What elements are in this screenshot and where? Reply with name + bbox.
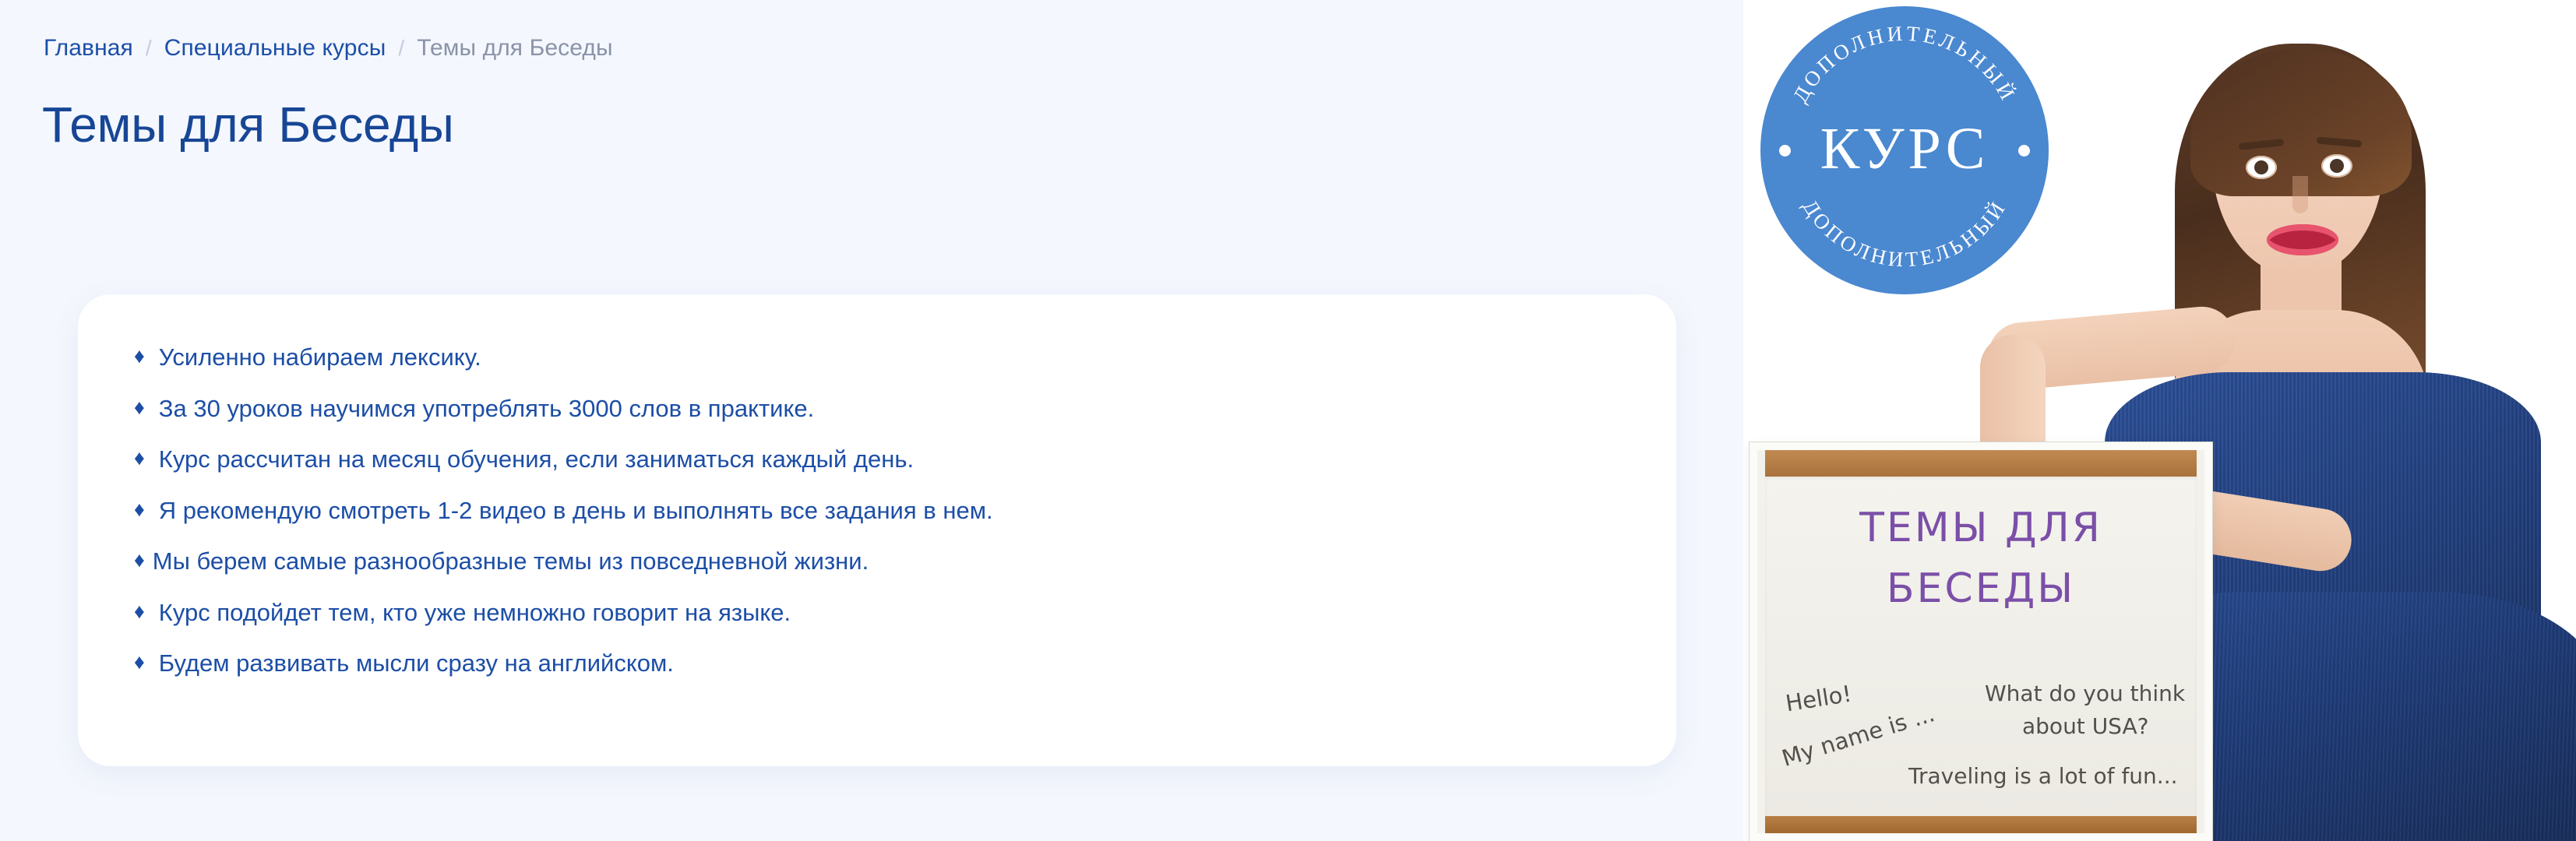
list-item: ♦ Усиленно набираем лексику. <box>134 341 1622 374</box>
breadcrumb-item-current: Темы для Беседы <box>417 34 612 62</box>
list-item: ♦ Курс подойдет тем, кто уже немножно го… <box>134 596 1622 629</box>
list-item-text: Я рекомендую смотреть 1-2 видео в день и… <box>159 494 993 527</box>
whiteboard-note-travel: Traveling is a lot of fun... <box>1908 763 2178 789</box>
whiteboard-title-line-1: ТЕМЫ ДЛЯ <box>1765 505 2197 551</box>
features-card: ♦ Усиленно набираем лексику. ♦ За 30 уро… <box>78 294 1676 766</box>
diamond-bullet-icon: ♦ <box>134 647 145 677</box>
breadcrumb-item-home[interactable]: Главная <box>44 34 133 62</box>
breadcrumb-item-special-courses[interactable]: Специальные курсы <box>164 34 386 62</box>
list-item: ♦ Будем развивать мысли сразу на английс… <box>134 647 1622 680</box>
seal-top-text: ДОПОЛНИТЕЛЬНЫЙ <box>1788 22 2021 107</box>
whiteboard: ТЕМЫ ДЛЯ БЕСЕДЫ Hello! My name is ... Wh… <box>1750 442 2212 841</box>
whiteboard-surface: ТЕМЫ ДЛЯ БЕСЕДЫ Hello! My name is ... Wh… <box>1765 477 2197 816</box>
whiteboard-note-what: What do you think <box>1985 681 2185 706</box>
seal-bottom-text: ДОПОЛНИТЕЛЬНЫЙ <box>1798 195 2010 272</box>
mouth <box>2267 224 2338 255</box>
diamond-bullet-icon: ♦ <box>134 341 145 371</box>
whiteboard-rail-bottom <box>1765 816 2197 833</box>
list-item-text: Будем развивать мысли сразу на английско… <box>159 647 674 680</box>
whiteboard-title-line-2: БЕСЕДЫ <box>1765 565 2197 612</box>
content-column: Главная / Специальные курсы / Темы для Б… <box>0 0 1743 841</box>
list-item-text: Усиленно набираем лексику. <box>159 341 481 374</box>
list-item: ♦ За 30 уроков научимся употреблять 3000… <box>134 392 1622 425</box>
course-page: Главная / Специальные курсы / Темы для Б… <box>0 0 2576 841</box>
diamond-bullet-icon: ♦ <box>134 545 145 575</box>
list-item: ♦ Мы берем самые разнообразные темы из п… <box>134 545 1622 578</box>
features-list: ♦ Усиленно набираем лексику. ♦ За 30 уро… <box>134 341 1622 680</box>
course-photo-panel: ДОПОЛНИТЕЛЬНЫЙ ДОПОЛНИТЕЛЬНЫЙ КУРС ТЕМЫ … <box>1743 0 2576 841</box>
breadcrumb: Главная / Специальные курсы / Темы для Б… <box>44 34 613 62</box>
breadcrumb-separator-2: / <box>398 35 404 62</box>
seal-center-text: КУРС <box>1760 115 2049 183</box>
photo-inner: ДОПОЛНИТЕЛЬНЫЙ ДОПОЛНИТЕЛЬНЫЙ КУРС ТЕМЫ … <box>1743 0 2576 841</box>
diamond-bullet-icon: ♦ <box>134 596 145 627</box>
nose <box>2292 176 2308 213</box>
list-item-text: Курс рассчитан на месяц обучения, если з… <box>159 443 914 476</box>
list-item: ♦ Курс рассчитан на месяц обучения, если… <box>134 443 1622 476</box>
list-item-text: За 30 уроков научимся употреблять 3000 с… <box>159 392 814 425</box>
diamond-bullet-icon: ♦ <box>134 392 145 423</box>
diamond-bullet-icon: ♦ <box>134 443 145 473</box>
list-item-text: Курс подойдет тем, кто уже немножно гово… <box>159 596 791 629</box>
pupil-left <box>2254 160 2268 174</box>
course-seal-badge: ДОПОЛНИТЕЛЬНЫЙ ДОПОЛНИТЕЛЬНЫЙ КУРС <box>1760 6 2049 294</box>
list-item: ♦ Я рекомендую смотреть 1-2 видео в день… <box>134 494 1622 527</box>
page-title: Темы для Беседы <box>42 93 454 156</box>
diamond-bullet-icon: ♦ <box>134 494 145 525</box>
pupil-right <box>2330 159 2344 173</box>
whiteboard-note-hello: Hello! <box>1784 681 1853 717</box>
breadcrumb-separator-1: / <box>146 35 152 62</box>
list-item-text: Мы берем самые разнообразные темы из пов… <box>153 545 869 578</box>
whiteboard-note-usa: about USA? <box>2022 713 2149 739</box>
whiteboard-rail-top <box>1765 450 2197 477</box>
